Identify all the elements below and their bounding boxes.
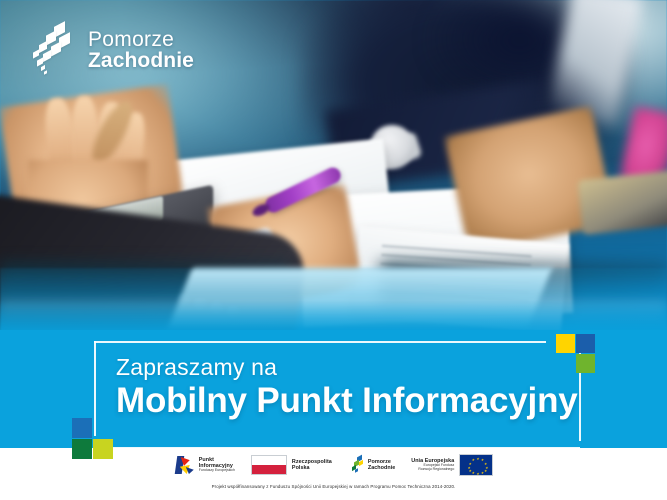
brand-line-2: Zachodnie bbox=[88, 50, 194, 71]
poster: Pomorze Zachodnie Zapraszamy na Mobilny … bbox=[0, 0, 667, 500]
frame-top-rule bbox=[94, 341, 546, 343]
logo-text-line2: Zachodnie bbox=[368, 465, 395, 471]
logo-text-line2: Polska bbox=[292, 465, 332, 471]
yellow-square bbox=[556, 334, 575, 353]
brand-logo: Pomorze Zachodnie bbox=[28, 22, 194, 78]
brand-wordmark: Pomorze Zachodnie bbox=[88, 29, 194, 72]
logo-rzeczpospolita-polska: Rzeczpospolita Polska bbox=[251, 455, 332, 475]
green-square bbox=[576, 354, 595, 373]
darkblue-square bbox=[576, 334, 595, 353]
logo-fundusze-europejskie: Punkt Informacyjny Funduszy Europejskich bbox=[174, 455, 235, 475]
headline-block: Zapraszamy na Mobilny Punkt Informacyjny bbox=[94, 341, 580, 441]
logo-pomorze-zachodnie: Pomorze Zachodnie bbox=[348, 455, 395, 475]
brand-line-1: Pomorze bbox=[88, 29, 194, 50]
decor-squares-right bbox=[556, 334, 596, 374]
pomorze-zachodnie-griffin-icon bbox=[348, 455, 365, 475]
footer-caption: Projekt współfinansowany z Funduszu Spój… bbox=[0, 484, 667, 489]
darkgreen-square bbox=[72, 439, 92, 459]
eu-flag-icon: ★ ★ ★ ★ ★ ★ ★ ★ ★ ★ ★ ★ bbox=[459, 454, 493, 476]
decor-squares-left bbox=[72, 418, 114, 460]
headline-title: Mobilny Punkt Informacyjny bbox=[116, 381, 578, 421]
fundusze-europejskie-icon bbox=[174, 455, 195, 475]
yellowgreen-square bbox=[93, 439, 113, 459]
logo-pomorze-text: Pomorze Zachodnie bbox=[368, 459, 395, 471]
polish-flag-icon bbox=[251, 455, 287, 475]
logo-polska-text: Rzeczpospolita Polska bbox=[292, 459, 332, 471]
frame-bottom-rule bbox=[102, 447, 580, 449]
logo-fundusze-text: Punkt Informacyjny Funduszy Europejskich bbox=[199, 457, 235, 473]
logo-text-line3: Funduszy Europejskich bbox=[199, 469, 235, 473]
pomorze-zachodnie-griffin-icon bbox=[28, 22, 78, 78]
logo-text-line4: Rozwoju Regionalnego bbox=[411, 468, 454, 472]
blue-square bbox=[72, 418, 92, 438]
headline-kicker: Zapraszamy na bbox=[116, 354, 277, 381]
logo-unia-europejska: Unia Europejska Europejski Fundusz Rozwo… bbox=[411, 454, 493, 476]
desk-device bbox=[577, 170, 667, 235]
logo-unia-text: Unia Europejska Europejski Fundusz Rozwo… bbox=[411, 458, 454, 472]
